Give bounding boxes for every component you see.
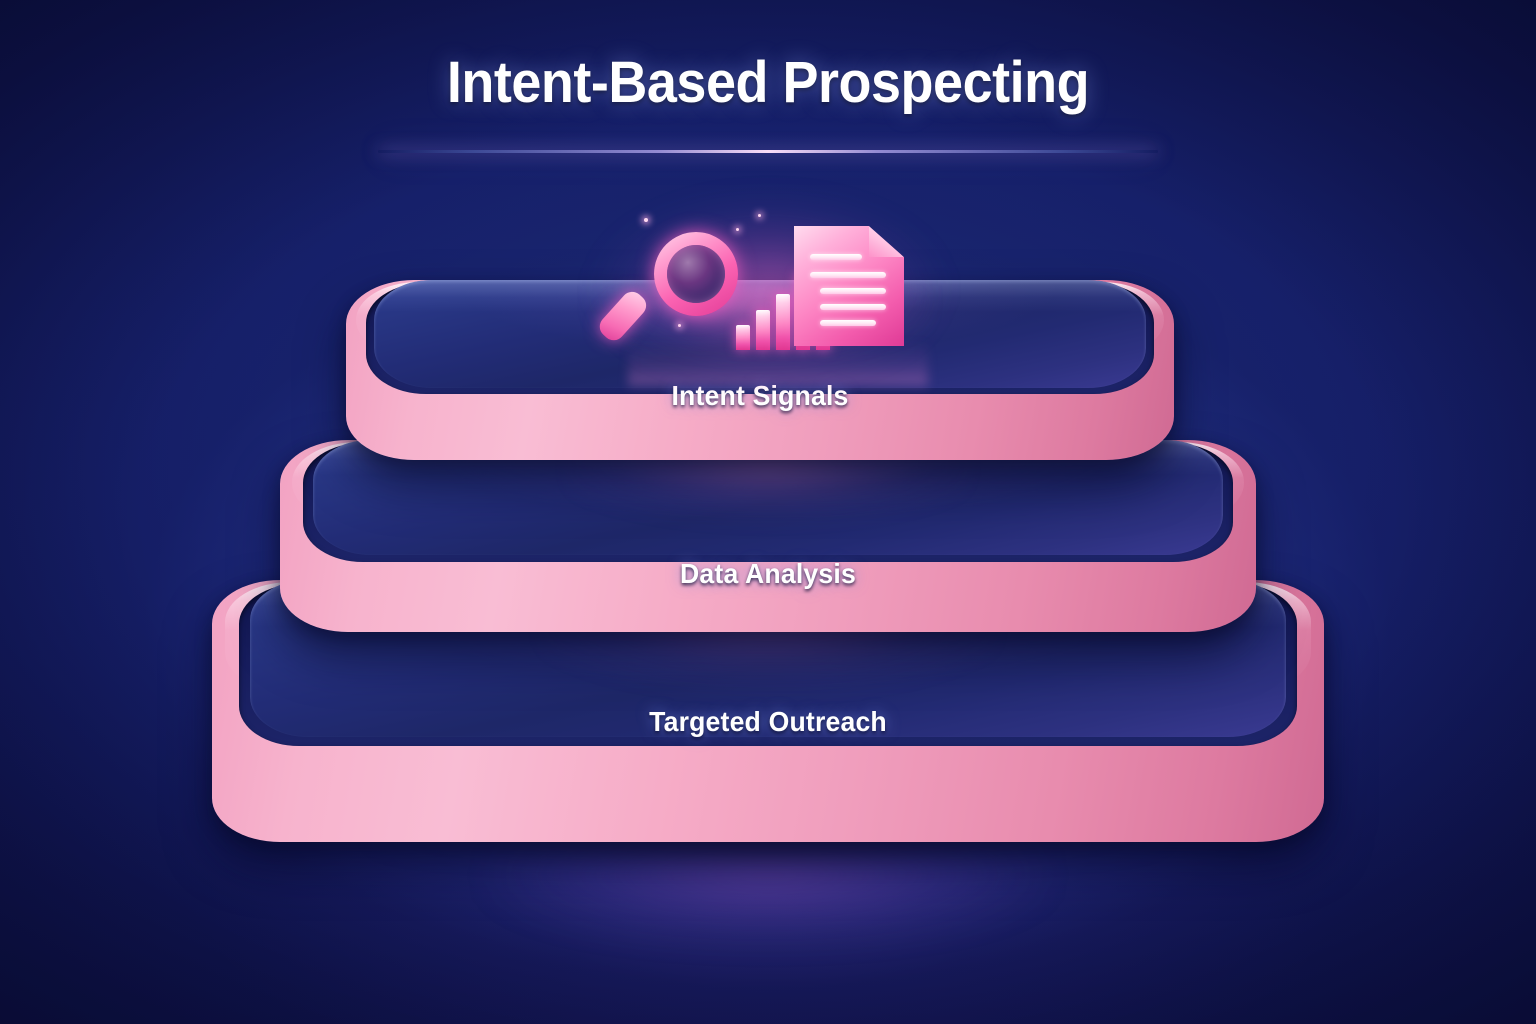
- bar-chart-bar: [736, 325, 750, 350]
- illustration-canvas: Intent-Based Prospecting Targeted Outrea…: [0, 0, 1536, 1024]
- document-text-line: [820, 288, 886, 294]
- bar-chart-bar: [776, 294, 790, 350]
- stack-layer-data-analysis[interactable]: Data Analysis: [280, 440, 1256, 632]
- page-title: Intent-Based Prospecting: [54, 52, 1482, 113]
- magnifier-icon: [626, 232, 738, 348]
- plate-glow: [568, 447, 968, 546]
- magnifier-lens: [667, 245, 725, 303]
- document-fold-corner: [869, 226, 904, 257]
- layer-label-1: Intent Signals: [367, 380, 1154, 412]
- sparkle-icon: [644, 218, 648, 222]
- document-text-line: [810, 272, 886, 278]
- sparkle-icon: [736, 228, 739, 231]
- title-block: Intent-Based Prospecting: [0, 52, 1536, 113]
- document-text-line: [820, 320, 876, 326]
- document-text-line: [810, 254, 862, 260]
- title-divider-glow: [378, 150, 1158, 153]
- document-text-line: [820, 304, 886, 310]
- bar-chart-bar: [756, 310, 770, 350]
- layer-stack: Targeted Outreach Data Analysis: [0, 0, 1536, 1024]
- icon-cluster: [618, 222, 938, 352]
- layer-label-2: Data Analysis: [304, 558, 1231, 590]
- layer-label-3: Targeted Outreach: [240, 706, 1296, 738]
- document-icon: [794, 226, 904, 346]
- sparkle-icon: [758, 214, 761, 217]
